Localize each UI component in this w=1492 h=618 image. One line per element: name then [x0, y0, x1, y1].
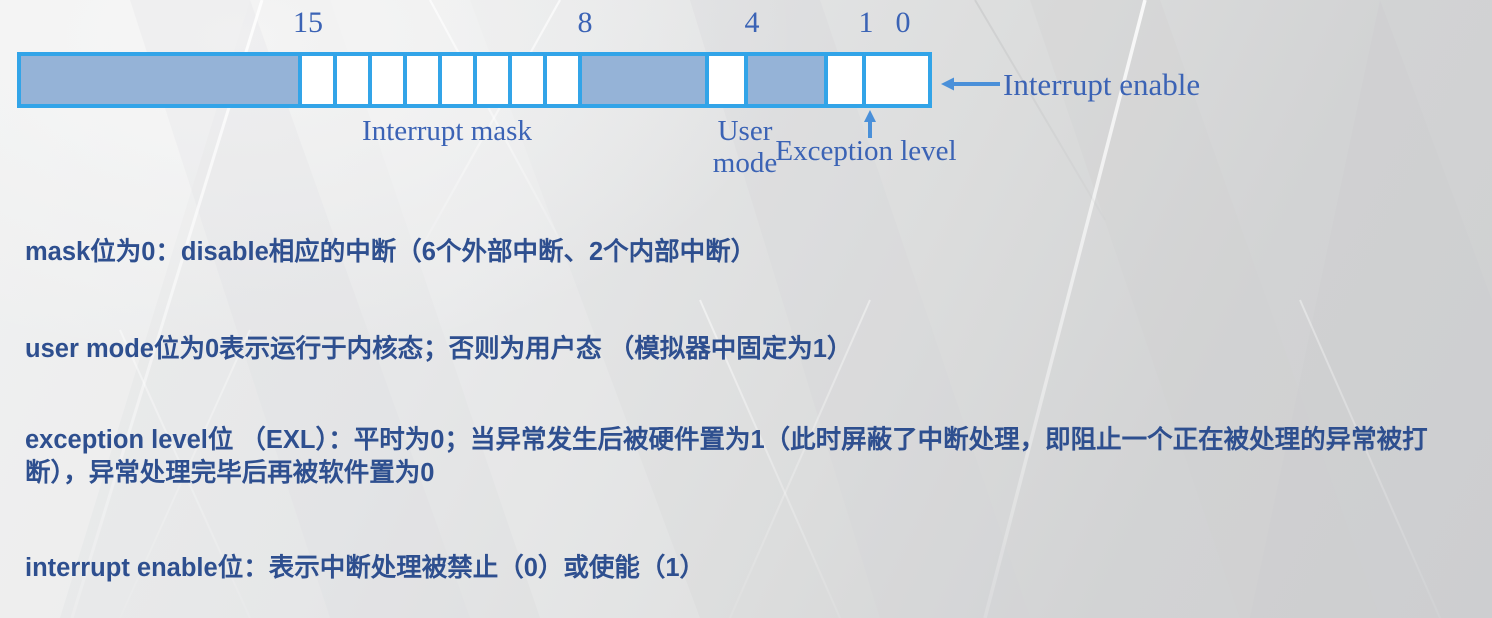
paragraph-exception-level-bit: exception level位 （EXL）：平时为0；当异常发生后被硬件置为1… [25, 424, 1487, 489]
body-text-block: mask位为0：disable相应的中断（6个外部中断、2个内部中断） user… [0, 0, 1492, 618]
paragraph-interrupt-enable-bit: interrupt enable位：表示中断处理被禁止（0）或使能（1） [25, 552, 1465, 585]
paragraph-mask-bit: mask位为0：disable相应的中断（6个外部中断、2个内部中断） [25, 236, 1465, 269]
paragraph-user-mode-bit: user mode位为0表示运行于内核态；否则为用户态 （模拟器中固定为1） [25, 333, 1465, 366]
